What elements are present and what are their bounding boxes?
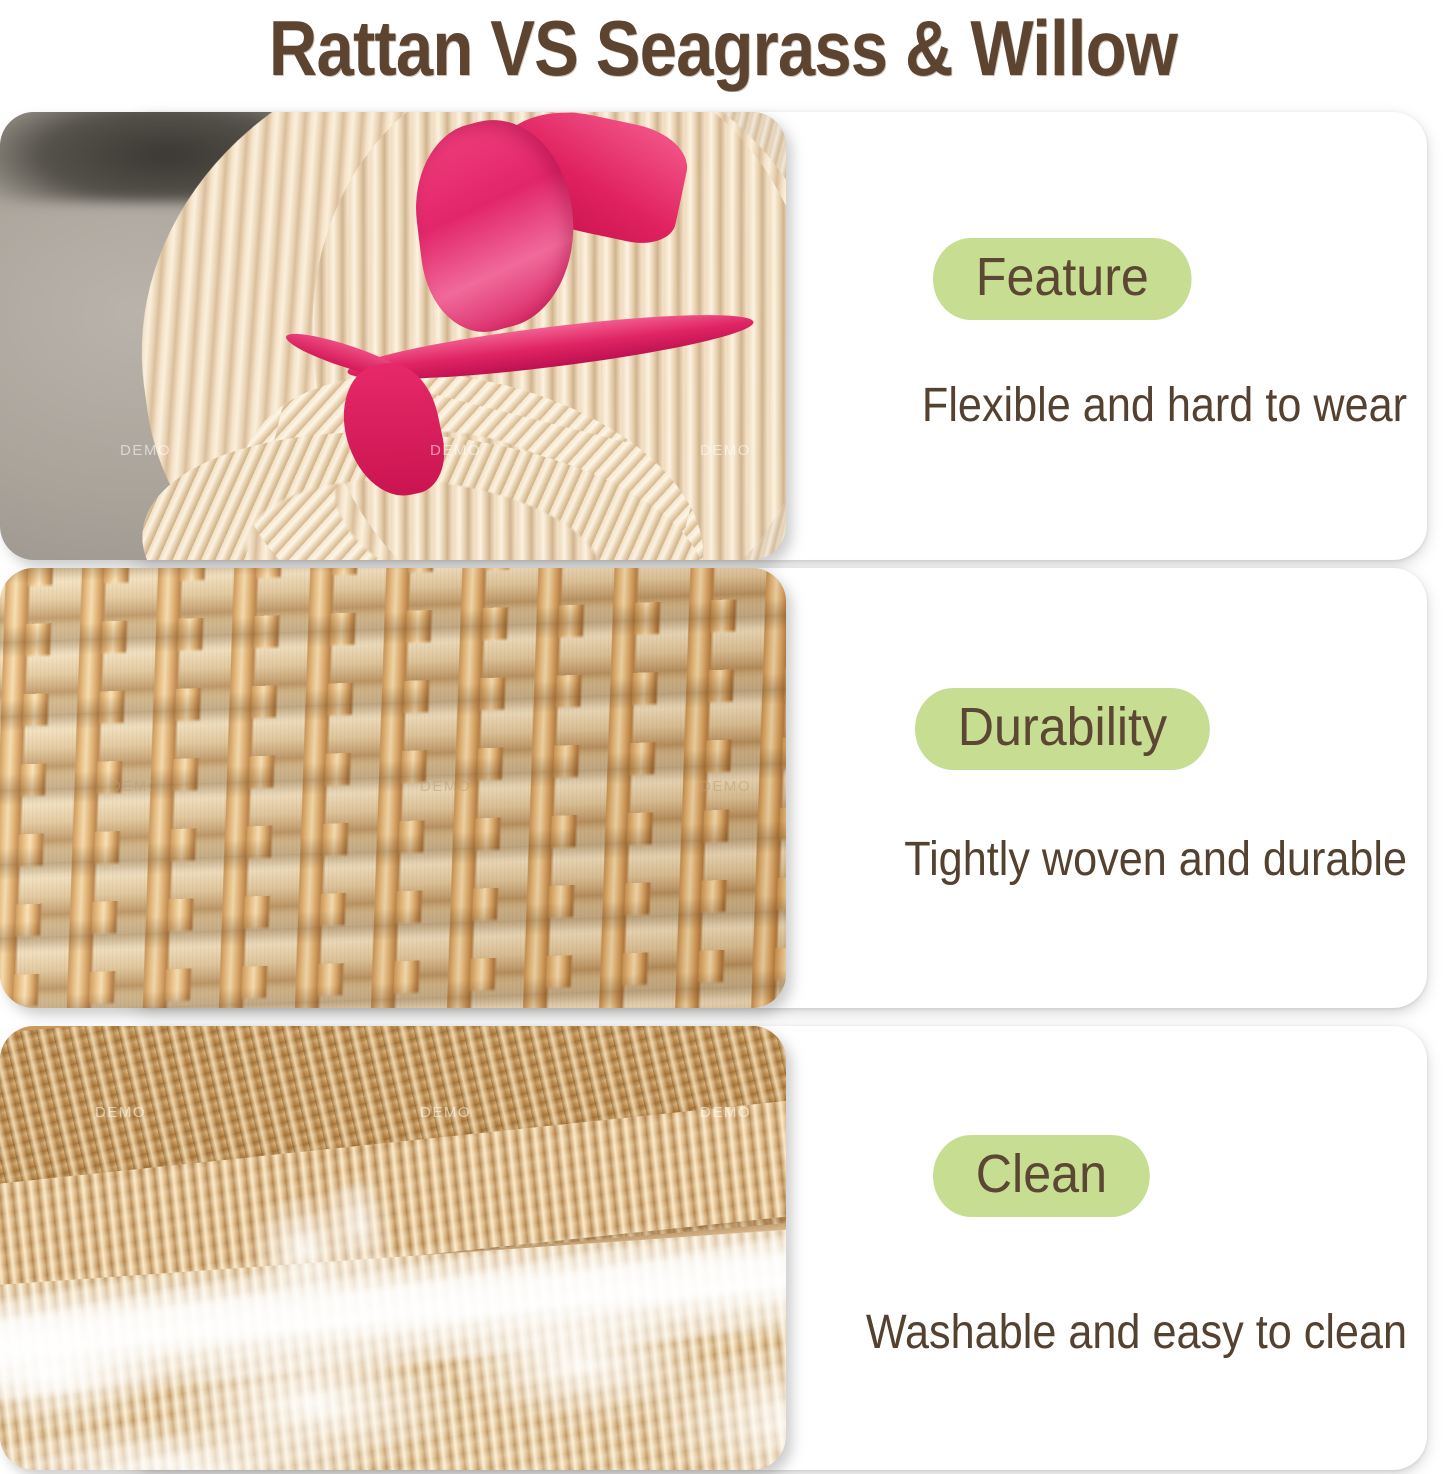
badge-durability: Durability xyxy=(915,688,1210,770)
product-image-2: DEMO DEMO DEMO xyxy=(0,568,786,1008)
feature-content-2: Durability Tightly woven and durable xyxy=(775,568,1445,1008)
caption-durability: Tightly woven and durable xyxy=(838,832,1407,888)
badge-feature: Feature xyxy=(933,238,1192,320)
image-3-canvas xyxy=(0,1026,786,1470)
image-2-shading xyxy=(0,568,786,1008)
feature-content-3: Clean Washable and easy to clean xyxy=(775,1026,1445,1470)
image-1-canvas xyxy=(0,112,786,560)
caption-clean: Washable and easy to clean xyxy=(838,1305,1407,1361)
image-3-suds xyxy=(0,1292,786,1470)
feature-row-2: DEMO DEMO DEMO Durability Tightly woven … xyxy=(0,568,1445,1008)
page-title: Rattan VS Seagrass & Willow xyxy=(268,3,1176,93)
product-image-1: DEMO DEMO DEMO xyxy=(0,112,786,560)
caption-feature: Flexible and hard to wear xyxy=(838,378,1407,434)
feature-row-3: DEMO DEMO DEMO Clean Washable and easy t… xyxy=(0,1026,1445,1470)
product-image-3: DEMO DEMO DEMO xyxy=(0,1026,786,1470)
title-bar: Rattan VS Seagrass & Willow xyxy=(0,0,1445,96)
image-2-canvas xyxy=(0,568,786,1008)
feature-content-1: Feature Flexible and hard to wear xyxy=(775,112,1445,560)
badge-clean: Clean xyxy=(933,1135,1150,1217)
infographic-page: Rattan VS Seagrass & Willow DEMO DEMO DE… xyxy=(0,0,1445,1474)
feature-row-1: DEMO DEMO DEMO Feature Flexible and hard… xyxy=(0,112,1445,560)
